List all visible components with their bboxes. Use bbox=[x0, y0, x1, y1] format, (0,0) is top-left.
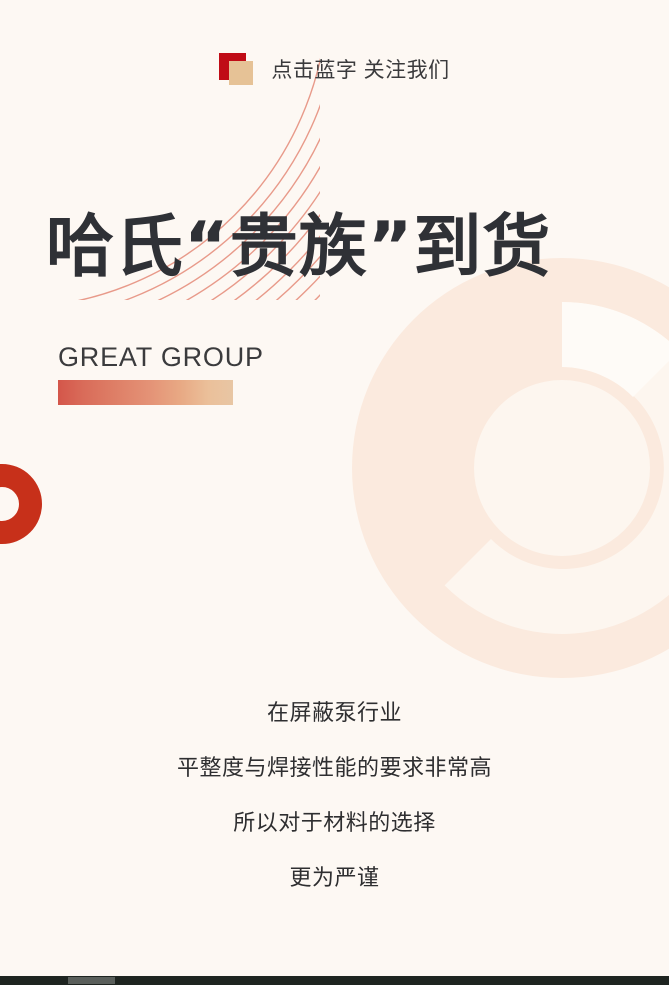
subtitle-text: GREAT GROUP bbox=[58, 344, 318, 371]
subtitle-gradient-bar bbox=[58, 380, 233, 405]
red-ring-decoration bbox=[0, 464, 42, 544]
body-line: 平整度与焊接性能的要求非常高 bbox=[0, 757, 669, 779]
logo-square-tan bbox=[229, 61, 253, 85]
page-title: 哈氏“贵族”到货 bbox=[46, 212, 551, 283]
article-page: 点击蓝字 关注我们 哈氏“贵族”到货 GREAT GROUP 在屏蔽泵行业 平整… bbox=[0, 0, 669, 985]
body-line: 所以对于材料的选择 bbox=[0, 812, 669, 834]
two-squares-logo-icon bbox=[219, 53, 253, 87]
header: 点击蓝字 关注我们 bbox=[0, 40, 669, 100]
scrollbar-thumb[interactable] bbox=[68, 977, 115, 984]
great-group-circle-logo-watermark bbox=[352, 258, 669, 678]
subtitle-block: GREAT GROUP bbox=[58, 344, 318, 371]
horizontal-scrollbar[interactable] bbox=[0, 976, 669, 985]
body-copy: 在屏蔽泵行业 平整度与焊接性能的要求非常高 所以对于材料的选择 更为严谨 bbox=[0, 702, 669, 889]
body-line: 在屏蔽泵行业 bbox=[0, 702, 669, 724]
follow-prompt-text[interactable]: 点击蓝字 关注我们 bbox=[271, 60, 449, 81]
body-line: 更为严谨 bbox=[0, 867, 669, 889]
